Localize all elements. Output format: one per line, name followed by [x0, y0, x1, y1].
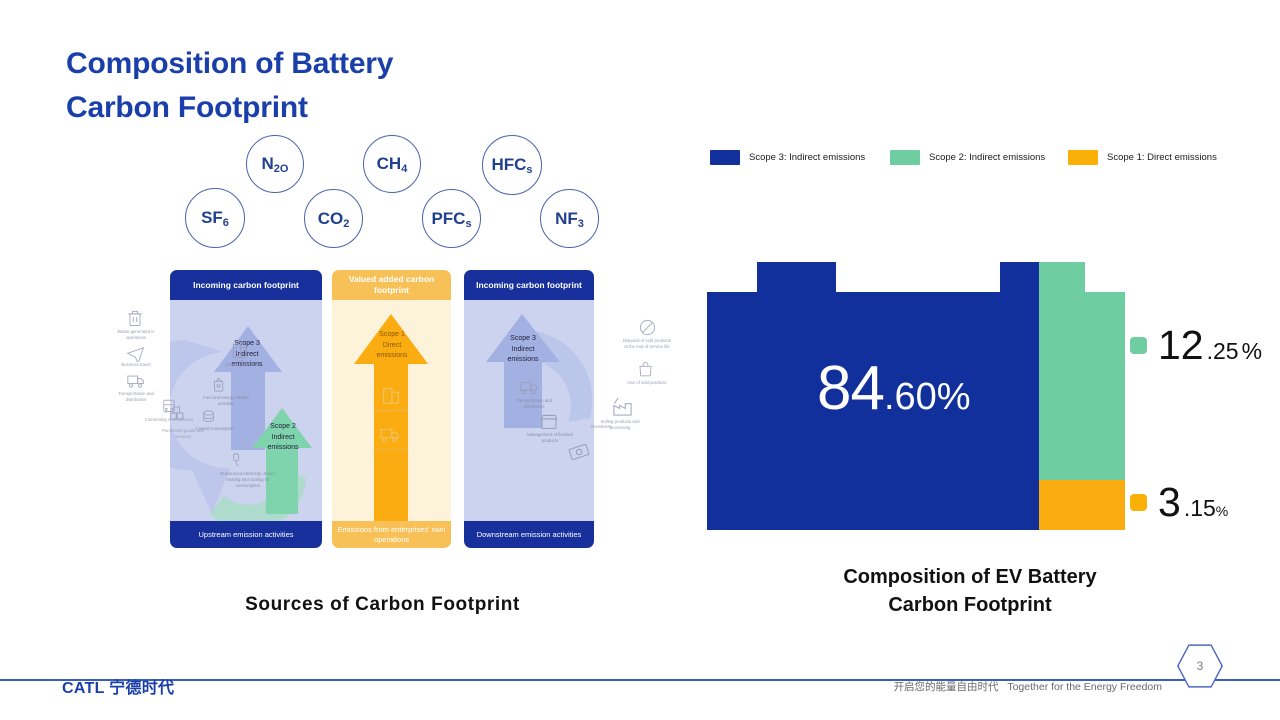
- gas-formula: N: [262, 154, 274, 173]
- gas-circle-hfcs: HFCs: [482, 135, 542, 195]
- gas-circle-nf3: NF3: [540, 189, 599, 248]
- value-scope1-decimal: .15: [1184, 497, 1216, 520]
- truck-icon: [518, 378, 540, 397]
- gas-subscript: 2O: [274, 163, 289, 175]
- footer-tagline-en: Together for the Energy Freedom: [1007, 681, 1162, 693]
- scope3-line2: Indirect: [478, 345, 568, 356]
- gas-circle-sf6: SF6: [185, 188, 245, 248]
- use-caption: Use of sold products: [621, 380, 673, 386]
- factory-icon: [611, 396, 634, 417]
- catl-logo-latin: CATL: [62, 680, 104, 697]
- gas-formula: NF: [555, 209, 578, 228]
- panel-header: Incoming carbon footprint: [170, 270, 322, 300]
- value-scope2: 12 .25 %: [1130, 325, 1262, 366]
- trash-caption: Waste generated in operations: [108, 329, 164, 341]
- panel-footer: Emissions from enterprises' own operatio…: [332, 521, 451, 548]
- no-entry-icon: [638, 318, 657, 337]
- scope1-line3: emissions: [347, 351, 437, 362]
- truck-icon: [126, 372, 146, 390]
- bar-scope1[interactable]: [1039, 480, 1125, 530]
- trash-icon: [125, 308, 145, 328]
- panel-header: Incoming carbon footprint: [464, 270, 594, 300]
- scope1-line1: Scope 1: [347, 330, 437, 341]
- footer-tagline: 开启您的能量自由时代 Together for the Energy Freed…: [894, 679, 1162, 694]
- value-scope1-marker: [1130, 494, 1147, 511]
- plug-caption: Outsourced electricity, steam, heating a…: [216, 471, 280, 488]
- legend-item-scope1[interactable]: Scope 1: Direct emissions: [1068, 150, 1217, 165]
- gas-formula: HFC: [491, 155, 526, 174]
- scope2-arrow-label: Scope 2 Indirect emissions: [238, 422, 322, 454]
- scope2-line1: Scope 2: [238, 422, 322, 433]
- gas-subscript: s: [526, 164, 532, 176]
- value-scope1-integer: 3: [1158, 482, 1181, 523]
- page-title-line1: Composition of Battery: [66, 42, 393, 86]
- panel-downstream: Incoming carbon footprint Scope 3 Indire…: [464, 270, 594, 548]
- disposal-caption: Disposal of sold products at the end of …: [622, 338, 672, 350]
- transport-caption: Transportation and distribution: [506, 398, 562, 410]
- legend-item-scope3[interactable]: Scope 3: Indirect emissions: [710, 150, 865, 165]
- page-number-badge: 3: [1177, 643, 1223, 689]
- gas-subscript: 6: [223, 217, 229, 229]
- page-number: 3: [1197, 659, 1204, 673]
- gas-circle-ch4: CH4: [363, 135, 421, 193]
- bag-icon: [636, 360, 655, 379]
- panel-body: Scope 1 Direct emissions Company facilit…: [332, 300, 451, 521]
- caption-composition-line1: Composition of EV Battery: [760, 564, 1180, 592]
- catl-logo: CATL 宁德时代: [62, 674, 174, 698]
- legend-label-scope1: Scope 1: Direct emissions: [1107, 152, 1217, 163]
- store-caption: Management of finished products: [522, 432, 578, 444]
- scope2-line2: Indirect: [238, 433, 322, 444]
- building-icon: [380, 384, 402, 406]
- footer-tagline-cn: 开启您的能量自由时代: [894, 681, 999, 693]
- gas-formula: CH: [377, 154, 402, 173]
- value-scope2-percent: %: [1242, 340, 1262, 363]
- fuel-caption: Fuel and energy related activities: [198, 395, 254, 407]
- facilities-caption: Company facilities: [363, 408, 419, 414]
- scope3-line1: Scope 3: [478, 334, 568, 345]
- building-caption: Leasing assets: [212, 362, 268, 368]
- caption-composition-line2: Carbon Footprint: [760, 592, 1180, 620]
- building-icon: [230, 340, 250, 360]
- gas-subscript: 3: [578, 218, 584, 230]
- bus-caption: Commuting of employees: [141, 417, 197, 423]
- truck-caption: Transportation and distribution: [108, 391, 164, 403]
- plug-icon: [228, 452, 245, 469]
- gas-circle-n2o: N2O: [246, 135, 304, 193]
- caption-sources: Sources of Carbon Footprint: [150, 594, 615, 616]
- value-scope3: 84.60%: [817, 358, 971, 420]
- airplane-caption: Business travel: [108, 362, 164, 368]
- boxes-caption: Purchased goods and services: [155, 428, 211, 440]
- bus-icon: [160, 398, 178, 416]
- gas-circle-pfcs: PFCs: [422, 189, 481, 248]
- value-scope2-integer: 12: [1158, 325, 1204, 366]
- value-scope3-integer: 84: [817, 354, 884, 423]
- gas-formula: PFC: [431, 209, 465, 228]
- page-title: Composition of Battery Carbon Footprint: [66, 42, 393, 131]
- value-scope1-percent: %: [1216, 504, 1228, 518]
- gas-formula: SF: [201, 208, 223, 227]
- scope3-arrow-label: Scope 3 Indirect emissions: [478, 334, 568, 366]
- caption-composition: Composition of EV Battery Carbon Footpri…: [760, 564, 1180, 619]
- value-scope3-decimal: .60%: [884, 376, 971, 418]
- value-scope1: 3 .15 %: [1130, 482, 1228, 523]
- catl-logo-cn: 宁德时代: [109, 680, 174, 697]
- legend-item-scope2[interactable]: Scope 2: Indirect emissions: [890, 150, 1045, 165]
- legend-label-scope3: Scope 3: Indirect emissions: [749, 152, 865, 163]
- panel-footer: Upstream emission activities: [170, 521, 322, 548]
- gas-subscript: 2: [343, 218, 349, 230]
- gas-subscript: 4: [401, 163, 407, 175]
- legend-swatch-scope1: [1068, 150, 1098, 165]
- scope1-line2: Direct: [347, 341, 437, 352]
- investment-caption: Investment: [586, 424, 616, 430]
- stacked-bar-chart: 84.60%: [707, 258, 1127, 530]
- panel-header: Valued added carbon footprint: [332, 270, 451, 300]
- panel-body: Scope 3 Indirect emissions Scope 2 Indir…: [170, 300, 322, 521]
- value-scope2-decimal: .25: [1207, 340, 1239, 363]
- bar-scope2[interactable]: [1039, 262, 1125, 490]
- coins-icon: [200, 408, 217, 425]
- fuel-icon: [210, 376, 228, 394]
- scope3-line3: emissions: [478, 355, 568, 366]
- scope2-line3: emissions: [238, 443, 322, 454]
- panel-footer: Downstream emission activities: [464, 521, 594, 548]
- legend-swatch-scope2: [890, 150, 920, 165]
- panel-body: Scope 3 Indirect emissions Transportatio…: [464, 300, 594, 521]
- page-title-line2: Carbon Footprint: [66, 86, 393, 130]
- gas-circle-co2: CO2: [304, 189, 363, 248]
- gas-formula: CO: [318, 209, 344, 228]
- gas-subscript: s: [465, 218, 471, 230]
- panel-own-operations: Valued added carbon footprint Scope 1 Di…: [332, 270, 451, 548]
- panel-upstream: Incoming carbon footprint Scope 3 Indire…: [170, 270, 322, 548]
- scope1-arrow-label: Scope 1 Direct emissions: [347, 330, 437, 362]
- store-icon: [538, 412, 560, 431]
- legend-label-scope2: Scope 2: Indirect emissions: [929, 152, 1045, 163]
- vehicles-caption: Company vehicles: [363, 447, 419, 453]
- truck-icon: [378, 425, 402, 445]
- value-scope2-marker: [1130, 337, 1147, 354]
- legend-swatch-scope3: [710, 150, 740, 165]
- airplane-icon: [126, 343, 145, 362]
